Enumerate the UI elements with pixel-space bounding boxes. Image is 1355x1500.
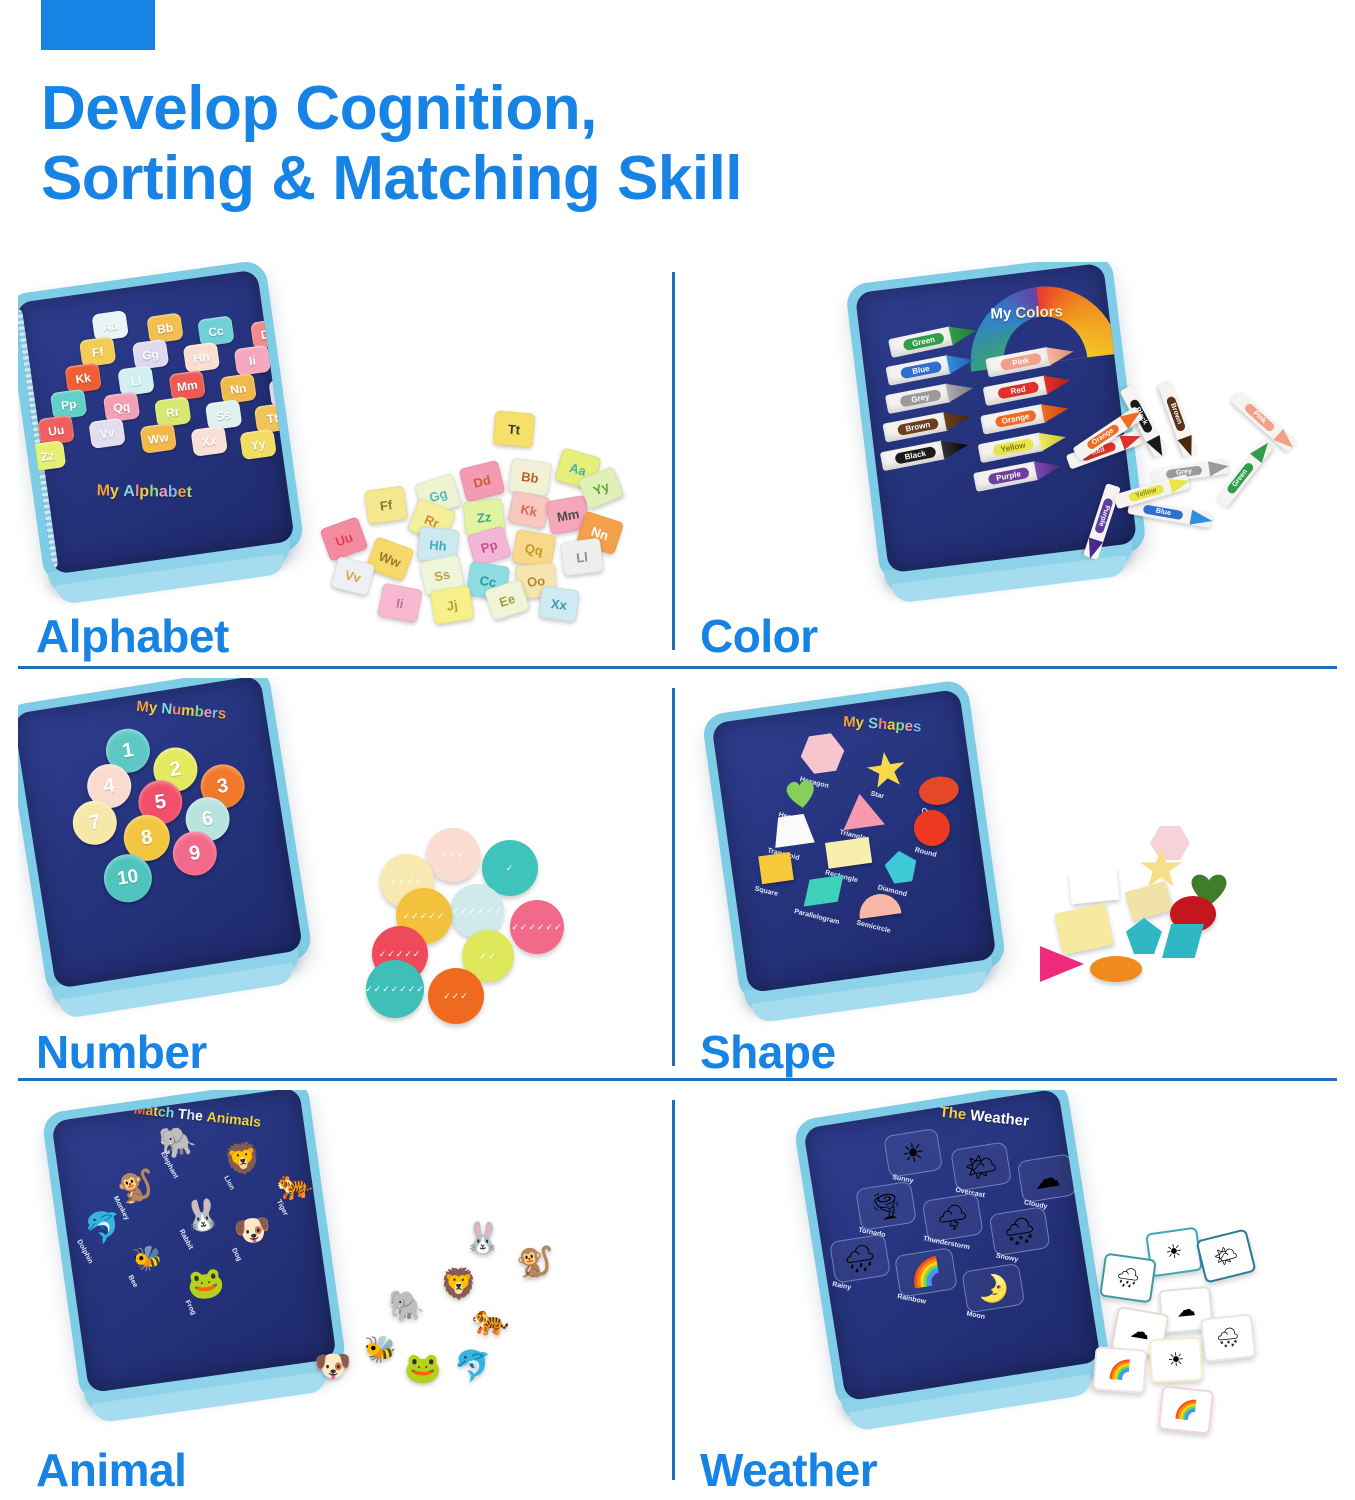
category-label-alphabet: Alphabet bbox=[36, 610, 229, 662]
vertical-divider-row-3 bbox=[672, 1100, 675, 1480]
shape-piece bbox=[1162, 924, 1204, 958]
shape-piece bbox=[1090, 956, 1142, 982]
count-token: ✓✓✓✓✓✓ bbox=[450, 884, 504, 938]
alphabet-book-cover: Aa Bb Cc Dd Ee Ff Gg Hh Ii Jj Kk Ll Mm N… bbox=[18, 269, 295, 574]
shape-label: Star bbox=[870, 790, 885, 800]
animal-monkey-piece: 🐒 bbox=[516, 1248, 553, 1278]
letter-tile: Xx bbox=[190, 425, 227, 456]
animal-bee-piece: 🐝 bbox=[364, 1336, 396, 1362]
animal-monkey-icon: 🐒 bbox=[115, 1170, 156, 1205]
crayon-piece: Blue bbox=[1127, 499, 1212, 528]
letter-tile: Tt bbox=[254, 402, 291, 433]
animal-bee-icon: 🐝 bbox=[132, 1246, 165, 1274]
shape-round bbox=[912, 808, 953, 849]
weather-cell-overcast: 🌤 bbox=[950, 1141, 1012, 1191]
letter-tile: Rr bbox=[154, 396, 191, 427]
animal-lion-icon: 🦁 bbox=[222, 1143, 263, 1178]
shape-square bbox=[758, 852, 794, 884]
category-label-animal: Animal bbox=[36, 1444, 186, 1496]
letter-tile: Cc bbox=[197, 315, 234, 346]
weather-card: ☀ bbox=[1149, 1337, 1203, 1384]
weather-card: 🌈 bbox=[1158, 1385, 1214, 1434]
alphabet-cover-title: My Alphabet bbox=[97, 482, 192, 502]
panel-weather: The Weather ☀ Sunny 🌤 Overcast ☁ Cloudy … bbox=[682, 1090, 1337, 1500]
feature-grid: Aa Bb Cc Dd Ee Ff Gg Hh Ii Jj Kk Ll Mm N… bbox=[0, 262, 1355, 1500]
shape-oval bbox=[917, 774, 961, 807]
horizontal-divider-1 bbox=[18, 666, 1337, 669]
weather-card: 🌤 bbox=[1195, 1228, 1256, 1283]
page-title: Develop Cognition, Sorting & Matching Sk… bbox=[41, 74, 1141, 214]
alphabet-tile-grid: Aa Bb Cc Dd Ee Ff Gg Hh Ii Jj Kk Ll Mm N… bbox=[18, 269, 295, 574]
shape-label: Parallelogram bbox=[793, 908, 840, 926]
weather-label: Rainy bbox=[832, 1281, 852, 1292]
letter-tile: Mm bbox=[169, 370, 206, 401]
category-label-number: Number bbox=[36, 1026, 207, 1078]
page-title-line-2: Sorting & Matching Skill bbox=[41, 144, 1141, 214]
letter-tile: Zz bbox=[29, 440, 66, 471]
letter-tile: Kk bbox=[64, 362, 101, 393]
panel-color: My Colors Green Blue Grey bbox=[682, 262, 1337, 666]
weather-cell-moon: 🌛 bbox=[961, 1263, 1025, 1314]
letter-tile: Nn bbox=[219, 373, 256, 404]
letter-tile: Jj bbox=[283, 350, 295, 381]
panel-shape: My Shapes Hexagon Star Heart Oval Triang… bbox=[682, 678, 1337, 1082]
weather-card: 🌧 bbox=[1099, 1253, 1157, 1304]
vertical-divider-row-2 bbox=[672, 688, 675, 1066]
shape-hexagon bbox=[798, 732, 847, 776]
letter-piece: Ff bbox=[364, 485, 408, 524]
weather-card: 🌨 bbox=[1200, 1313, 1256, 1362]
weather-cell-tornado: 🌪 bbox=[855, 1181, 917, 1231]
letter-piece: Ii bbox=[377, 582, 423, 623]
letter-tile: Oo bbox=[268, 376, 295, 407]
weather-loose-pieces: ☀ 🌤 🌧 ☁ ☁ 🌨 🌈 ☀ 🌈 bbox=[1094, 1230, 1337, 1460]
letter-piece: Kk bbox=[507, 490, 551, 529]
count-token: ✓✓✓ bbox=[426, 828, 480, 882]
shape-label: Round bbox=[914, 847, 937, 859]
animal-dolphin-piece: 🐬 bbox=[454, 1352, 491, 1382]
letter-tile: Dd bbox=[250, 318, 287, 349]
panel-alphabet: Aa Bb Cc Dd Ee Ff Gg Hh Ii Jj Kk Ll Mm N… bbox=[18, 262, 672, 666]
weather-label: Snowy bbox=[995, 1252, 1018, 1263]
animal-lion-piece: 🦁 bbox=[440, 1270, 477, 1300]
number-loose-pieces: ✓✓✓ ✓ ✓✓✓✓ ✓✓✓✓✓✓ ✓✓✓✓✓ ✓✓✓✓✓✓ ✓✓✓✓✓ ✓✓ … bbox=[366, 828, 626, 1028]
animal-loose-pieces: 🐰 🐒 🦁 🐘 🐅 🐝 🐶 🐸 🐬 bbox=[286, 1224, 566, 1434]
animal-dog-piece: 🐶 bbox=[314, 1352, 351, 1382]
weather-label: Moon bbox=[966, 1310, 986, 1320]
weather-book: The Weather ☀ Sunny 🌤 Overcast ☁ Cloudy … bbox=[793, 1090, 1112, 1412]
letter-tile: Hh bbox=[183, 342, 220, 373]
letter-piece: Tt bbox=[493, 410, 536, 447]
shape-piece bbox=[1150, 826, 1190, 860]
brand-accent-square bbox=[41, 0, 155, 50]
shape-cover-title: My Shapes bbox=[843, 713, 922, 735]
shape-label: Semicircle bbox=[856, 920, 892, 935]
shape-diamond bbox=[883, 849, 919, 885]
animal-elephant-piece: 🐘 bbox=[388, 1292, 425, 1322]
alphabet-loose-pieces: Tt Dd Bb Aa Ff Gg Rr Zz Kk Mm Nn Uu Hh P… bbox=[314, 412, 644, 632]
number-book-cover: My Numbers 1 2 3 4 5 6 7 8 9 10 bbox=[18, 678, 303, 989]
weather-cell-rainy: 🌧 bbox=[829, 1233, 891, 1283]
shape-piece bbox=[1068, 868, 1119, 905]
letter-tile: Qq bbox=[103, 391, 140, 422]
shape-piece bbox=[1126, 918, 1162, 954]
letter-tile: Yy bbox=[239, 429, 276, 460]
animal-tiger-piece: 🐅 bbox=[472, 1306, 509, 1336]
letter-tile: Gg bbox=[132, 339, 169, 370]
category-label-color: Color bbox=[700, 610, 818, 662]
page-title-line-1: Develop Cognition, bbox=[41, 74, 597, 143]
shape-piece bbox=[1054, 903, 1114, 955]
panel-animal: Match The Animals 🐘 Elephant 🦁 Lion 🐒 Mo… bbox=[18, 1090, 672, 1500]
letter-tile: Ii bbox=[234, 345, 271, 376]
animal-cover-title: Match The Animals bbox=[133, 1101, 262, 1130]
animal-rabbit-icon: 🐰 bbox=[182, 1199, 223, 1234]
letter-tile: Bb bbox=[146, 312, 183, 343]
vertical-divider-row-1 bbox=[672, 272, 675, 650]
weather-cell-sunny: ☀ bbox=[883, 1128, 943, 1178]
weather-cell-cloudy: ☁ bbox=[1017, 1153, 1077, 1203]
animal-label: Bee bbox=[126, 1274, 138, 1289]
letter-piece: Jj bbox=[430, 585, 475, 625]
shape-rectangle bbox=[825, 837, 872, 869]
count-token: ✓✓✓✓✓✓✓ bbox=[366, 960, 424, 1018]
shape-star bbox=[865, 749, 908, 790]
weather-cell-rainbow: 🌈 bbox=[894, 1247, 958, 1298]
shape-book-cover: My Shapes Hexagon Star Heart Oval Triang… bbox=[711, 689, 996, 993]
shape-label: Square bbox=[754, 885, 779, 898]
letter-tile: Vv bbox=[88, 418, 125, 449]
letter-tile: Ss bbox=[205, 399, 242, 430]
color-cover-title: My Colors bbox=[990, 303, 1063, 323]
weather-label: Rainbow bbox=[897, 1293, 927, 1305]
infographic-page: Develop Cognition, Sorting & Matching Sk… bbox=[0, 0, 1355, 1500]
shape-piece bbox=[1125, 881, 1174, 921]
category-label-weather: Weather bbox=[700, 1444, 877, 1496]
weather-cell-snowy: 🌨 bbox=[989, 1206, 1051, 1256]
weather-cell-thunderstorm: 🌩 bbox=[922, 1192, 984, 1242]
animal-frog-piece: 🐸 bbox=[404, 1354, 441, 1384]
letter-piece: Xx bbox=[538, 586, 580, 622]
count-token: ✓✓✓ bbox=[428, 968, 484, 1024]
letter-piece: Uu bbox=[319, 516, 368, 562]
shape-book: My Shapes Hexagon Star Heart Oval Triang… bbox=[701, 679, 1007, 1003]
letter-piece: Ll bbox=[560, 538, 604, 577]
letter-piece: Dd bbox=[458, 460, 505, 503]
count-token: ✓✓✓✓✓✓ bbox=[510, 900, 564, 954]
animal-rabbit-piece: 🐰 bbox=[464, 1224, 501, 1254]
animal-dolphin-icon: 🐬 bbox=[83, 1211, 124, 1246]
letter-tile: Ww bbox=[140, 422, 177, 453]
weather-book-cover: The Weather ☀ Sunny 🌤 Overcast ☁ Cloudy … bbox=[803, 1090, 1101, 1401]
shape-parallelogram bbox=[800, 875, 847, 907]
number-book: My Numbers 1 2 3 4 5 6 7 8 9 10 bbox=[18, 678, 314, 999]
animal-frog-icon: 🐸 bbox=[185, 1267, 226, 1302]
panel-number: My Numbers 1 2 3 4 5 6 7 8 9 10 ✓✓✓ ✓ ✓✓… bbox=[18, 678, 672, 1082]
animal-dog-icon: 🐶 bbox=[233, 1214, 274, 1249]
color-loose-pieces: Red Black Brown Pink Grey Green Blue Pur… bbox=[1058, 410, 1328, 610]
alphabet-book: Aa Bb Cc Dd Ee Ff Gg Hh Ii Jj Kk Ll Mm N… bbox=[18, 262, 305, 585]
weather-cover-title: The Weather bbox=[939, 1104, 1030, 1130]
shape-loose-pieces bbox=[1028, 822, 1308, 1022]
letter-tile: Ll bbox=[117, 365, 154, 396]
number-cover-title: My Numbers bbox=[136, 698, 227, 723]
category-label-shape: Shape bbox=[700, 1026, 836, 1078]
weather-card: 🌈 bbox=[1093, 1346, 1148, 1394]
letter-tile: Ff bbox=[79, 336, 116, 367]
